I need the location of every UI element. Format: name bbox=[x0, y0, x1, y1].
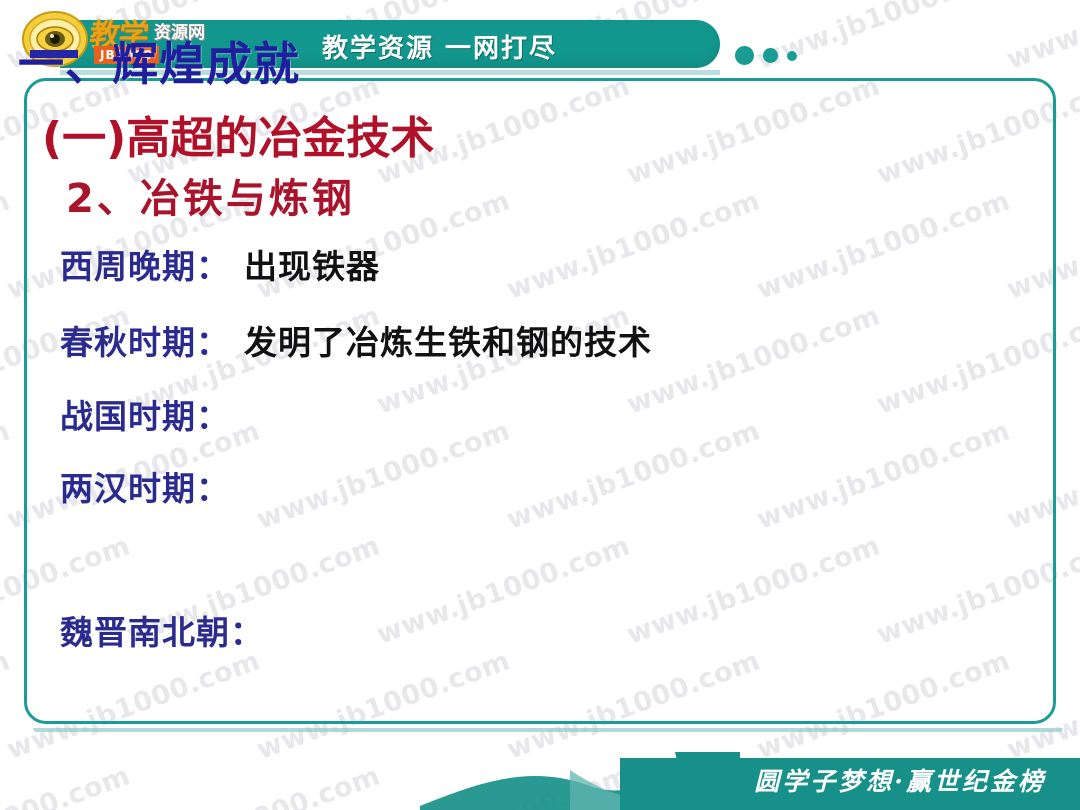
row-label: 魏晋南北朝： bbox=[60, 613, 264, 652]
section-subheading: 2、冶铁与炼钢 bbox=[66, 166, 355, 224]
row-value: 发明了冶炼生铁和钢的技术 bbox=[244, 323, 652, 362]
content-row: 魏晋南北朝： bbox=[60, 606, 278, 654]
dot-medium-icon bbox=[763, 48, 778, 63]
dot-small-icon bbox=[787, 51, 797, 61]
row-label: 两汉时期： bbox=[60, 469, 230, 508]
content-row: 两汉时期： bbox=[60, 462, 244, 510]
row-label: 战国时期： bbox=[60, 397, 230, 436]
footer-slogan: 圆学子梦想·赢世纪金榜 bbox=[754, 762, 1046, 798]
content-row: 春秋时期：发明了冶炼生铁和钢的技术 bbox=[60, 316, 652, 364]
dot-large-icon bbox=[735, 46, 754, 65]
row-value: 出现铁器 bbox=[244, 247, 380, 286]
presentation-slide: www.jb1000.comwww.jb1000.comwww.jb1000.c… bbox=[0, 0, 1080, 810]
slide-footer: 圆学子梦想·赢世纪金榜 bbox=[0, 752, 1080, 810]
page-title: 一、辉煌成就 bbox=[18, 28, 300, 94]
row-label: 西周晚期： bbox=[60, 247, 230, 286]
header-dots-decoration bbox=[735, 46, 797, 65]
watermark-text: www.jb1000.com bbox=[0, 645, 14, 765]
slide-content: (一)高超的冶金技术 2、冶铁与炼钢 西周晚期：出现铁器 春秋时期：发明了冶炼生… bbox=[24, 78, 1050, 718]
content-row: 西周晚期：出现铁器 bbox=[60, 240, 380, 288]
watermark-text: www.jb1000.com bbox=[0, 415, 14, 535]
row-label: 春秋时期： bbox=[60, 323, 230, 362]
content-row: 战国时期： bbox=[60, 390, 244, 438]
watermark-text: www.jb1000.com bbox=[0, 185, 14, 305]
section-heading: (一)高超的冶金技术 bbox=[42, 102, 434, 166]
header-banner-text: 教学资源 一网打尽 bbox=[322, 28, 557, 65]
